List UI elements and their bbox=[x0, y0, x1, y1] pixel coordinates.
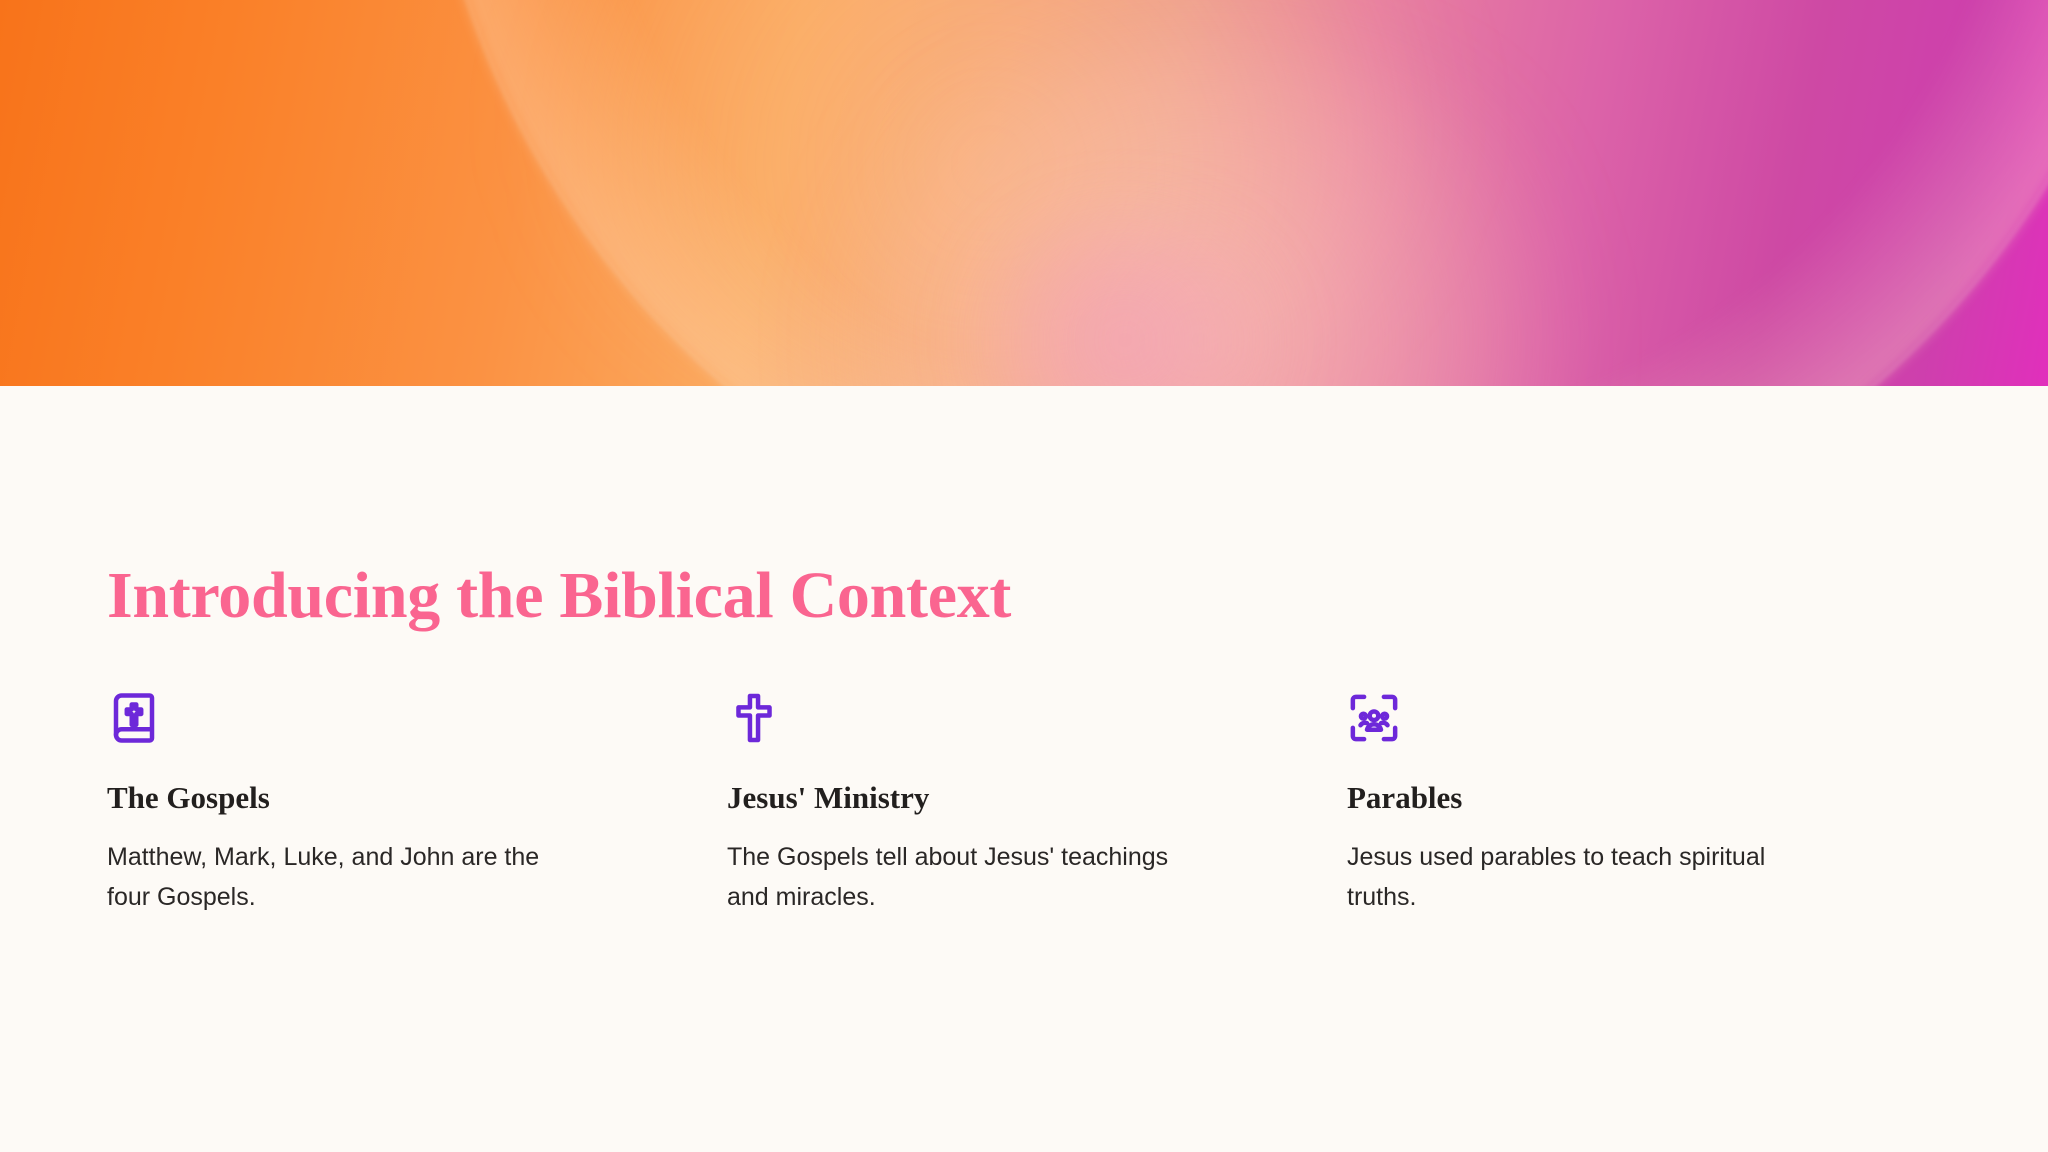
feature-card-body: Matthew, Mark, Luke, and John are the fo… bbox=[107, 838, 577, 917]
hero-banner bbox=[0, 0, 2048, 386]
feature-card-row: The Gospels Matthew, Mark, Luke, and Joh… bbox=[107, 691, 1967, 917]
feature-card-body: The Gospels tell about Jesus' teachings … bbox=[727, 838, 1197, 917]
content-section: Introducing the Biblical Context The Gos… bbox=[0, 386, 2048, 1152]
cross-icon bbox=[727, 691, 781, 745]
feature-card: The Gospels Matthew, Mark, Luke, and Joh… bbox=[107, 691, 727, 917]
feature-card-title: Parables bbox=[1347, 779, 1887, 816]
bible-book-cross-icon bbox=[107, 691, 161, 745]
feature-card-body: Jesus used parables to teach spiritual t… bbox=[1347, 838, 1817, 917]
feature-card: Parables Jesus used parables to teach sp… bbox=[1347, 691, 1967, 917]
feature-card: Jesus' Ministry The Gospels tell about J… bbox=[727, 691, 1347, 917]
feature-card-title: Jesus' Ministry bbox=[727, 779, 1267, 816]
group-focus-icon bbox=[1347, 691, 1401, 745]
feature-card-title: The Gospels bbox=[107, 779, 647, 816]
section-title: Introducing the Biblical Context bbox=[107, 559, 1011, 633]
page-root: Introducing the Biblical Context The Gos… bbox=[0, 0, 2048, 1152]
